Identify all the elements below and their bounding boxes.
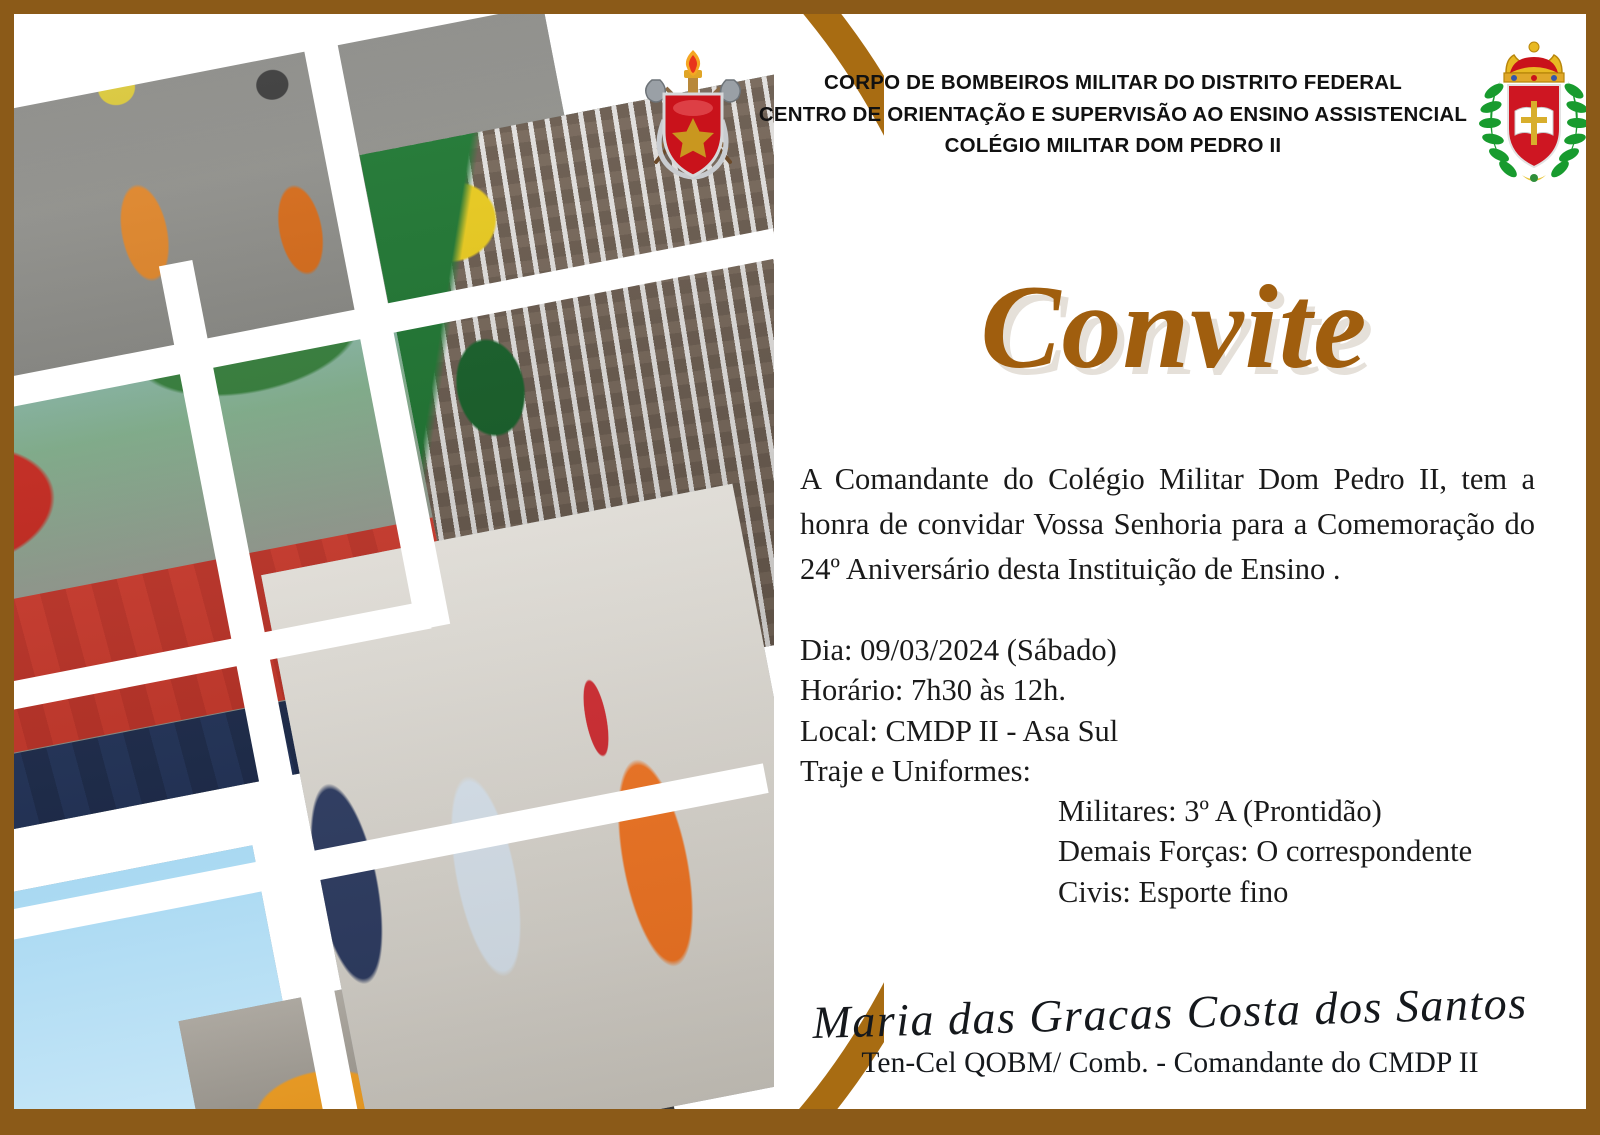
header-title-block: CORPO DE BOMBEIROS MILITAR DO DISTRITO F…: [752, 67, 1474, 162]
invitation-body: A Comandante do Colégio Militar Dom Pedr…: [800, 457, 1535, 591]
signature-role: Ten-Cel QOBM/ Comb. - Comandante do CMDP…: [800, 1047, 1540, 1080]
detail-day: Dia: 09/03/2024 (Sábado): [800, 630, 1540, 670]
signature-block: Maria das Gracas Costa dos Santos Ten-Ce…: [800, 989, 1540, 1080]
detail-dress-civilians: Civis: Esporte fino: [800, 872, 1540, 912]
page-title: Convite: [804, 239, 1544, 414]
poster-canvas: CORPO DE BOMBEIROS MILITAR DO DISTRITO F…: [14, 14, 1586, 1109]
colegio-militar-crest-icon: [1474, 37, 1586, 192]
signature-name: Maria das Gracas Costa dos Santos: [799, 979, 1540, 1048]
header-line-1: CORPO DE BOMBEIROS MILITAR DO DISTRITO F…: [758, 67, 1468, 99]
header-line-3: COLÉGIO MILITAR DOM PEDRO II: [758, 130, 1468, 162]
detail-dress-military: Militares: 3º A (Prontidão): [800, 791, 1540, 831]
header: CORPO DE BOMBEIROS MILITAR DO DISTRITO F…: [634, 32, 1586, 197]
cbmdf-emblem-icon: [634, 50, 752, 180]
title-text: Convite: [981, 260, 1368, 393]
header-line-2: CENTRO DE ORIENTAÇÃO E SUPERVISÃO AO ENS…: [758, 99, 1468, 131]
invitation-paragraph: A Comandante do Colégio Militar Dom Pedr…: [800, 457, 1535, 591]
detail-place: Local: CMDP II - Asa Sul: [800, 711, 1540, 751]
detail-dress-label: Traje e Uniformes:: [800, 751, 1540, 791]
invitation-poster: CORPO DE BOMBEIROS MILITAR DO DISTRITO F…: [0, 0, 1600, 1135]
detail-dress-other-forces: Demais Forças: O correspondente: [800, 831, 1540, 871]
event-details: Dia: 09/03/2024 (Sábado) Horário: 7h30 à…: [800, 630, 1540, 912]
detail-time: Horário: 7h30 às 12h.: [800, 670, 1540, 710]
